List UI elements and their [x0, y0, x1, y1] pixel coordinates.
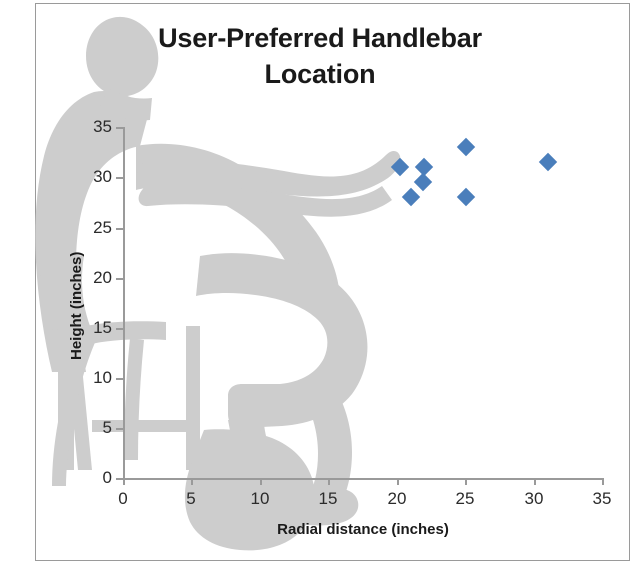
y-tick-label: 35 — [82, 117, 112, 137]
x-tick-label: 20 — [382, 489, 412, 509]
x-tick — [328, 478, 330, 485]
x-axis-line — [123, 478, 603, 480]
x-tick — [602, 478, 604, 485]
y-tick — [116, 378, 123, 380]
x-tick-label: 15 — [313, 489, 343, 509]
data-point[interactable] — [391, 158, 409, 176]
chart-title-line-2: Location — [265, 59, 376, 89]
y-tick — [116, 278, 123, 280]
y-tick-label: 0 — [92, 468, 112, 488]
x-tick-label: 30 — [519, 489, 549, 509]
y-tick-label: 20 — [82, 268, 112, 288]
x-tick — [260, 478, 262, 485]
x-tick-label: 0 — [108, 489, 138, 509]
x-tick — [534, 478, 536, 485]
y-axis-label: Height (inches) — [68, 252, 85, 360]
y-tick — [116, 177, 123, 179]
x-tick-label: 25 — [450, 489, 480, 509]
x-tick — [465, 478, 467, 485]
chart-title: User-Preferred Handlebar Location — [120, 20, 520, 93]
x-tick-label: 10 — [245, 489, 275, 509]
chart-plot-area: User-Preferred Handlebar Location 0 5 10… — [0, 0, 634, 568]
data-point[interactable] — [402, 188, 420, 206]
y-tick — [116, 428, 123, 430]
x-tick-label: 35 — [587, 489, 617, 509]
chart-figure: User-Preferred Handlebar Location 0 5 10… — [0, 0, 634, 568]
x-tick — [397, 478, 399, 485]
y-tick-label: 30 — [82, 167, 112, 187]
x-tick — [123, 478, 125, 485]
y-tick-label: 15 — [82, 318, 112, 338]
y-tick — [116, 328, 123, 330]
x-tick — [191, 478, 193, 485]
data-point[interactable] — [457, 138, 475, 156]
y-tick — [116, 478, 123, 480]
data-point[interactable] — [414, 173, 432, 191]
y-tick — [116, 127, 123, 129]
y-tick — [116, 228, 123, 230]
data-point[interactable] — [539, 153, 557, 171]
data-point[interactable] — [457, 188, 475, 206]
y-tick-label: 5 — [92, 418, 112, 438]
x-axis-label: Radial distance (inches) — [243, 521, 483, 538]
y-tick-label: 25 — [82, 218, 112, 238]
y-axis-line — [123, 127, 125, 479]
x-tick-label: 5 — [176, 489, 206, 509]
chart-title-line-1: User-Preferred Handlebar — [158, 23, 482, 53]
y-tick-label: 10 — [82, 368, 112, 388]
